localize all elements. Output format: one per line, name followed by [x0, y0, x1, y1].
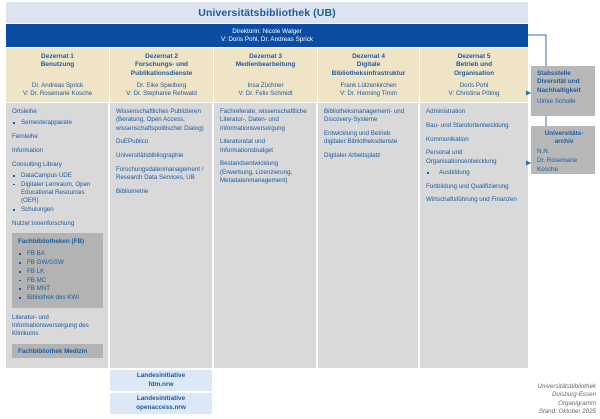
dept1-task-consulting-library: Consulting Library	[12, 161, 103, 169]
dept5-title-line1: Dezernat 5	[454, 53, 494, 61]
document-caption: Universitätsbibliothek Duisburg-Essen Or…	[538, 383, 596, 416]
list-item: FB LK	[18, 268, 98, 276]
dept4-title-line3: Bibliotheksinfrastruktur	[332, 70, 406, 78]
dept5-task-personal: Personal und Organisationsentwicklung	[426, 149, 523, 166]
dept5-task-wirtschaft: Wirtschaftsführung und Finanzen	[426, 196, 523, 204]
initiative-2-line2: openaccess.nrw	[136, 404, 186, 412]
list-item: Bibliothek des KWI	[18, 294, 98, 302]
dept2-title-line3: Publikationsdienste	[131, 70, 192, 78]
dept4-task-3: Digitaler Arbeitsplatz	[324, 152, 413, 160]
caption-line-4: Stand: Oktober 2025	[538, 408, 596, 416]
list-item: Digitaler Lernraum, Open Educational Res…	[12, 181, 103, 206]
dept3-task-1: Fachreferate, wissenschaftliche Literatu…	[220, 108, 311, 133]
list-item: Schulungen	[12, 206, 103, 214]
department-header-dezernat-2[interactable]: Dezernat 2 Forschungs- und Publikationsd…	[110, 48, 214, 102]
dept2-title-line1: Dezernat 2	[131, 53, 192, 61]
dept3-task-2: Literaturetat und Informationsbudget	[220, 138, 311, 155]
dept4-deputy: V: Dr. Henning Timm	[318, 90, 419, 98]
dept4-title-line1: Dezernat 4	[332, 53, 406, 61]
dept5-head: Doris Pohl	[420, 82, 528, 90]
dept2-head: Dr. Eike Spielberg	[110, 82, 213, 90]
list-item: DataCampus UDE	[12, 172, 103, 180]
list-item: FB BA	[18, 250, 98, 258]
initiative-1-line1: Landesinitiative	[137, 372, 185, 380]
director-name: Direktorin: Nicole Walger	[232, 28, 301, 35]
dept5-task-fortbildung: Fortbildung und Qualifizierung	[426, 183, 523, 191]
list-item: FB MNT	[18, 285, 98, 293]
caption-line-1: Universitätsbibliothek	[538, 383, 596, 391]
fachbibliothek-medizin-title: Fachbibliothek Medizin	[18, 348, 98, 355]
list-item: Ausbildung	[426, 169, 523, 177]
initiative-1-line2: fdm.nrw	[149, 381, 174, 389]
stabsstelle-title: Stabsstelle Diversität und Nachhaltigkei…	[537, 70, 591, 95]
department-body-row: Ortsleihe Semesterapparate Fernleihe Inf…	[6, 103, 528, 368]
dept3-title-line1: Dezernat 3	[236, 53, 296, 61]
department-body-dezernat-2: Wissenschaftliches Publizieren (Beratung…	[110, 103, 214, 368]
dept4-title-line2: Digitale	[332, 61, 406, 69]
dept1-task-ortsleihe: Ortsleihe	[12, 108, 103, 116]
dept5-title-line3: Organisation	[454, 70, 494, 78]
dept2-task-5: Bibliometrie	[116, 188, 207, 196]
organigramm-root: Universitätsbibliothek (UB) Direktorin: …	[0, 0, 600, 419]
fachbibliotheken-title: Fachbibliotheken (FB)	[18, 238, 98, 245]
dept1-title-line2: Benutzung	[41, 61, 75, 69]
initiative-2-line1: Landesinitiative	[137, 395, 185, 403]
director-deputies: V: Doris Pohl, Dr. Andreas Sprick	[221, 36, 313, 43]
department-header-dezernat-5[interactable]: Dezernat 5 Betrieb und Organisation Dori…	[420, 48, 528, 102]
organization-title-bar: Universitätsbibliothek (UB)	[6, 2, 528, 23]
initiative-box-fdm-nrw[interactable]: Landesinitiative fdm.nrw	[110, 370, 212, 391]
dept4-task-2: Entwicklung und Betrieb digitaler Biblio…	[324, 130, 413, 147]
dept4-task-1: Bibliotheksmanagement- und Discovery-Sys…	[324, 108, 413, 125]
department-body-dezernat-4: Bibliotheksmanagement- und Discovery-Sys…	[318, 103, 420, 368]
fachbibliotheken-box: Fachbibliotheken (FB) FB BA FB GW/GSW FB…	[12, 233, 103, 308]
department-body-dezernat-1: Ortsleihe Semesterapparate Fernleihe Inf…	[6, 103, 110, 368]
dept1-deputy: V: Dr. Rosemarie Kosche	[6, 90, 109, 98]
dept2-task-2: DuEPublico	[116, 138, 207, 146]
department-header-dezernat-1[interactable]: Dezernat 1 Benutzung Dr. Andreas Sprick …	[6, 48, 110, 102]
dept4-head: Frank Lützenkirchen	[318, 82, 419, 90]
dept3-head: Insa Züchner	[214, 82, 317, 90]
dept2-task-4: Forschungsdatenmanagement / Research Dat…	[116, 166, 207, 183]
list-item: FB GW/GSW	[18, 259, 98, 267]
director-band: Direktorin: Nicole Walger V: Doris Pohl,…	[6, 24, 528, 47]
dept1-task-fernleihe: Fernleihe	[12, 133, 103, 141]
dept3-title-line2: Medienbearbeitung	[236, 61, 296, 69]
dept1-ortsleihe-bullets: Semesterapparate	[12, 119, 103, 127]
dept1-consulting-bullets: DataCampus UDE Digitaler Lernraum, Open …	[12, 172, 103, 214]
dept5-title-line2: Betrieb und	[454, 61, 494, 69]
dept2-deputy: V: Dr. Stephanie Rehwald	[110, 90, 213, 98]
staff-unit-universitaetsarchiv[interactable]: Universitäts-archiv N.N. Dr. Rosemarie K…	[531, 126, 595, 174]
initiative-box-openaccess-nrw[interactable]: Landesinitiative openaccess.nrw	[110, 393, 212, 414]
department-body-dezernat-5: Administration Bau- und Standortentwickl…	[420, 103, 528, 368]
department-header-dezernat-3[interactable]: Dezernat 3 Medienbearbeitung Insa Züchne…	[214, 48, 318, 102]
dept5-task-kommunikation: Kommunikation	[426, 136, 523, 144]
dept2-task-1: Wissenschaftliches Publizieren (Beratung…	[116, 108, 207, 133]
dept5-personal-bullets: Ausbildung	[426, 169, 523, 177]
dept3-deputy: V: Dr. Felix Schmidt	[214, 90, 317, 98]
fachbibliotheken-list: FB BA FB GW/GSW FB LK FB MC FB MNT Bibli…	[18, 250, 98, 302]
dept1-task-information: Information	[12, 147, 103, 155]
uniarchiv-person-1: N.N.	[537, 148, 591, 156]
dept5-deputy: V: Christina Pöting	[420, 90, 528, 98]
dept1-head: Dr. Andreas Sprick	[6, 82, 109, 90]
department-header-dezernat-4[interactable]: Dezernat 4 Digitale Bibliotheksinfrastru…	[318, 48, 420, 102]
uniarchiv-person-2: Dr. Rosemarie Kosche	[537, 157, 591, 174]
department-header-row: Dezernat 1 Benutzung Dr. Andreas Sprick …	[6, 48, 528, 102]
dept3-task-3: Bestandsentwicklung (Erwerbung, Lizenzie…	[220, 160, 311, 185]
dept1-title-line1: Dezernat 1	[41, 53, 75, 61]
page-title: Universitätsbibliothek (UB)	[198, 7, 335, 19]
dept2-title-line2: Forschungs- und	[131, 61, 192, 69]
dept5-task-bau: Bau- und Standortentwicklung	[426, 122, 523, 130]
department-body-dezernat-3: Fachreferate, wissenschaftliche Literatu…	[214, 103, 318, 368]
dept1-task-nutzerinnenforschung: Nutzer:innenforschung	[12, 220, 103, 228]
caption-line-3: Organigramm	[538, 400, 596, 408]
fachbibliothek-medizin-box: Fachbibliothek Medizin	[12, 344, 103, 358]
caption-line-2: Duisburg-Essen	[538, 391, 596, 399]
dept5-task-administration: Administration	[426, 108, 523, 116]
list-item: Semesterapparate	[12, 119, 103, 127]
dept1-task-klinikum: Literatur- und Informationsversorgung de…	[12, 314, 103, 339]
dept2-task-3: Universitätsbibliographie	[116, 152, 207, 160]
uniarchiv-title: Universitäts-archiv	[537, 130, 591, 147]
staff-unit-stabsstelle-diversitaet[interactable]: Stabsstelle Diversität und Nachhaltigkei…	[531, 66, 595, 116]
list-item: FB MC	[18, 277, 98, 285]
stabsstelle-person: Ulrike Scholle	[537, 98, 591, 106]
